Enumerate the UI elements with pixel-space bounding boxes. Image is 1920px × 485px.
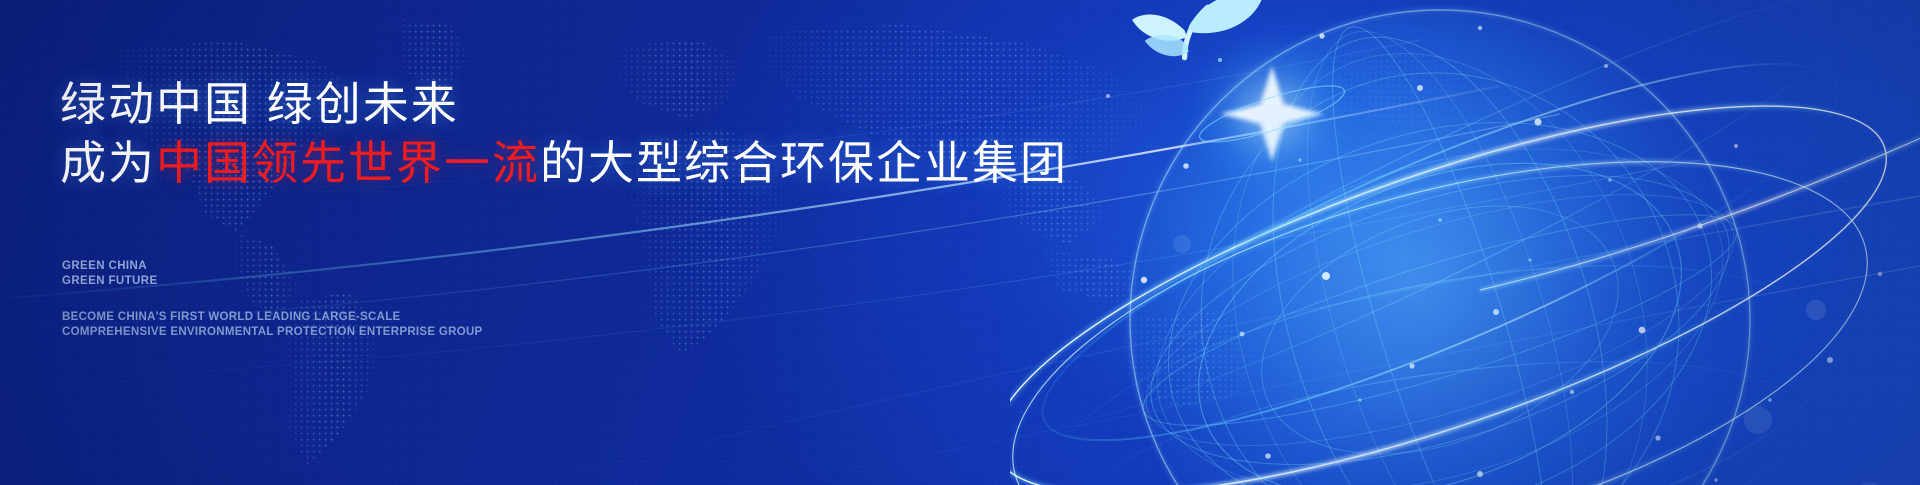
headline-line-2-prefix: 成为 xyxy=(60,137,156,189)
headline-line-2-suffix: 的大型综合环保企业集团 xyxy=(540,137,1068,189)
globe-glow xyxy=(1130,10,1750,485)
english-tagline: BECOME CHINA'S FIRST WORLD LEADING LARGE… xyxy=(62,310,483,339)
vignette-overlay xyxy=(0,0,1920,485)
english-tagline-line-2: COMPREHENSIVE ENVIRONMENTAL PROTECTION E… xyxy=(62,325,483,340)
english-subtitle-line-1: GREEN CHINA xyxy=(62,259,158,274)
sprout-seedling-icon xyxy=(1132,0,1264,58)
headline-line-2: 成为中国领先世界一流的大型综合环保企业集团 xyxy=(60,137,1060,190)
headline-line-1: 绿动中国 绿创未来 xyxy=(60,78,1060,131)
hero-banner: 绿动中国 绿创未来 成为中国领先世界一流的大型综合环保企业集团 GREEN CH… xyxy=(0,0,1920,485)
english-tagline-line-1: BECOME CHINA'S FIRST WORLD LEADING LARGE… xyxy=(62,310,483,325)
english-subtitle-line-2: GREEN FUTURE xyxy=(62,274,158,289)
halftone-world-map xyxy=(0,0,1920,485)
english-subtitle: GREEN CHINA GREEN FUTURE xyxy=(62,259,158,288)
headline-line-2-highlight: 中国领先世界一流 xyxy=(156,137,540,189)
headline-block: 绿动中国 绿创未来 成为中国领先世界一流的大型综合环保企业集团 xyxy=(60,78,1060,191)
star-burst-glow xyxy=(1186,28,1358,200)
wireframe-globe xyxy=(1010,0,1920,485)
light-streaks xyxy=(0,0,1920,485)
